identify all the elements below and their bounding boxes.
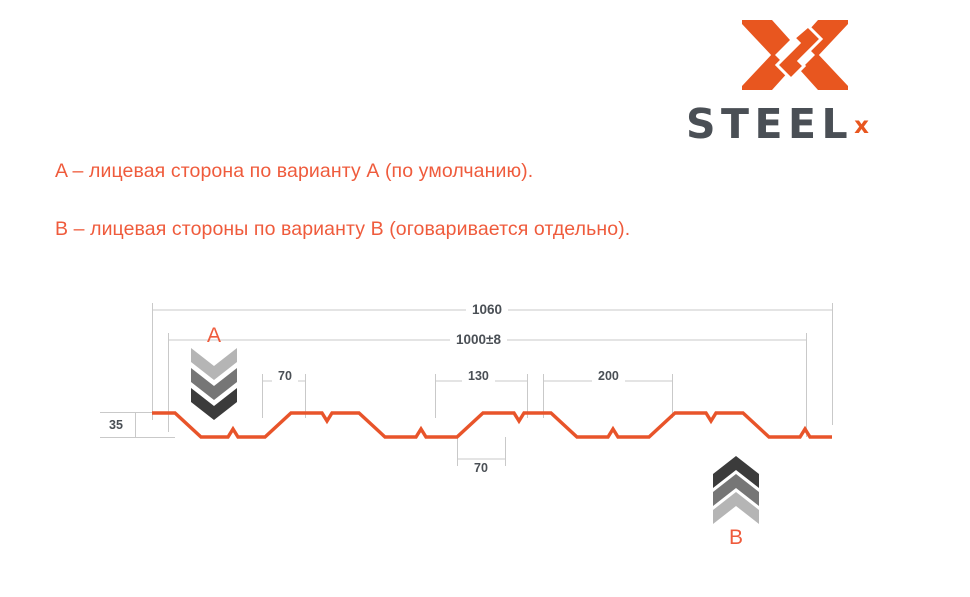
note-variant-a: A – лицевая сторона по варианту А (по ум… — [55, 160, 533, 183]
chevron-down-icon — [191, 348, 237, 422]
dimension-label-crest-70: 70 — [272, 369, 298, 383]
brand-wordmark: STEEL x — [686, 104, 906, 146]
wordmark-superscript-x: x — [854, 115, 869, 138]
note-variant-b: B – лицевая стороны по варианту B (огова… — [55, 218, 630, 241]
dimension-label-1060: 1060 — [466, 302, 508, 317]
side-marker-b: B — [713, 456, 759, 546]
steelx-x-mark-icon — [742, 16, 848, 94]
dimension-overall-1060 — [153, 303, 833, 425]
dimension-label-1000: 1000±8 — [450, 332, 507, 347]
sheet-profile-polyline — [152, 413, 832, 437]
brand-logo: STEEL x — [686, 16, 906, 146]
dimension-working-1000 — [169, 333, 807, 437]
side-marker-a-letter: A — [191, 324, 237, 348]
dimension-label-35: 35 — [103, 418, 129, 432]
dimension-label-130: 130 — [462, 369, 495, 383]
chevron-up-icon — [713, 456, 759, 526]
wordmark-steel-text: STEEL — [686, 104, 853, 145]
side-marker-b-letter: B — [713, 526, 759, 550]
dimension-label-200: 200 — [592, 369, 625, 383]
side-marker-a: A — [191, 324, 237, 422]
dimension-label-valley-70: 70 — [468, 461, 494, 475]
